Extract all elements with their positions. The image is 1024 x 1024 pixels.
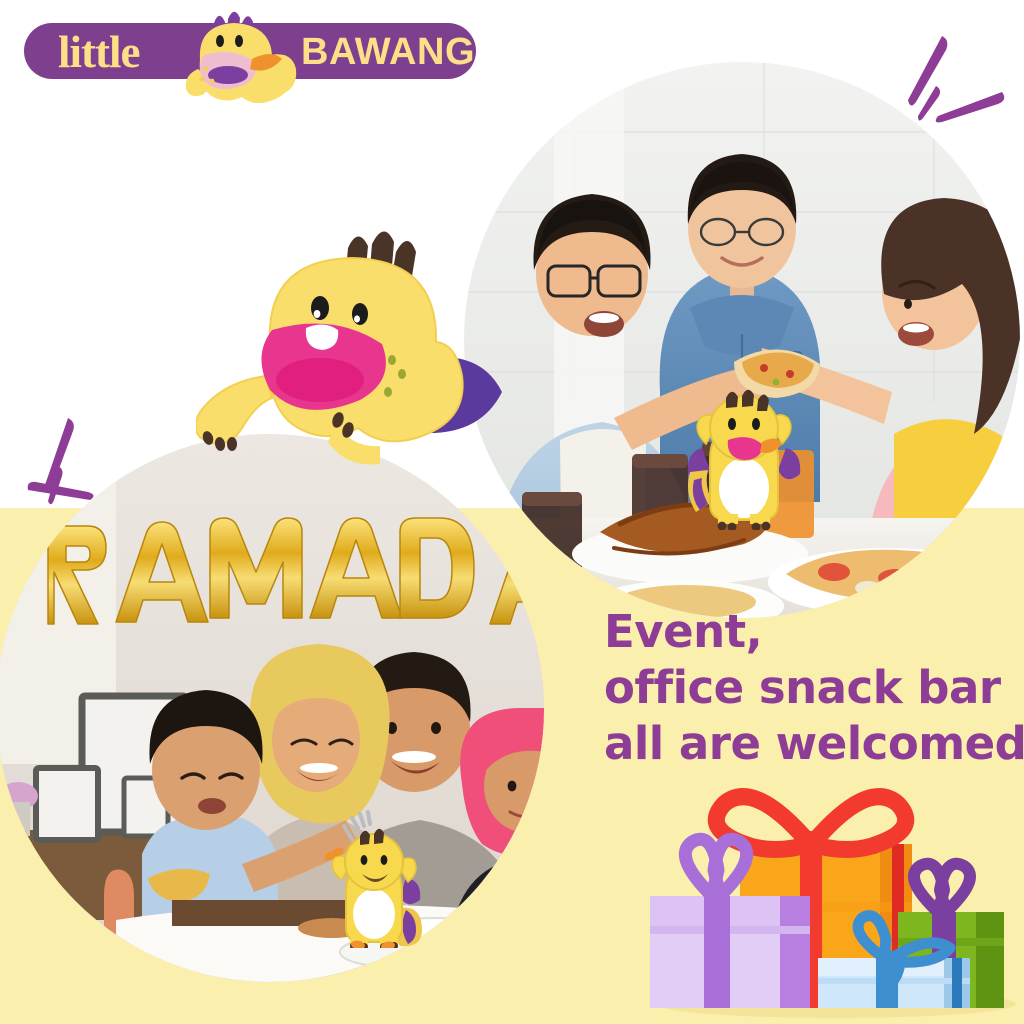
headline: Event, office snack bar all are welcomed — [604, 604, 1004, 772]
logo-mascot-svg — [184, 7, 304, 103]
bawang-dino-small-mascot — [322, 822, 426, 948]
dino-small-icon — [322, 822, 426, 948]
headline-line-1: Event, — [604, 604, 1004, 660]
dino-peeking-icon — [196, 224, 506, 504]
logo-word-little: little — [58, 27, 139, 77]
dino-standing-icon — [684, 388, 804, 530]
purple-sparkle-accent-bottom-left — [24, 414, 134, 524]
headline-line-2: office snack bar — [604, 660, 1004, 716]
bawang-dino-peeking-mascot — [196, 224, 506, 504]
bawang-dino-standing-mascot — [684, 388, 804, 530]
sparkle-strokes-icon — [886, 30, 1006, 150]
headline-line-3: all are welcomed — [604, 716, 1004, 772]
promo-poster: Event, office snack bar all are welcomed — [0, 0, 1024, 1024]
logo-word-bawang: BAWANG — [301, 31, 475, 73]
brand-logo[interactable]: little BAWANG — [24, 23, 476, 79]
gift-boxes-icon — [640, 782, 1024, 1024]
purple-sparkle-accent-top-right — [886, 30, 1006, 150]
gift-boxes-illustration — [640, 782, 1024, 1024]
duck-dinosaur-head-icon — [184, 7, 304, 103]
sparkle-strokes-icon — [24, 414, 134, 524]
